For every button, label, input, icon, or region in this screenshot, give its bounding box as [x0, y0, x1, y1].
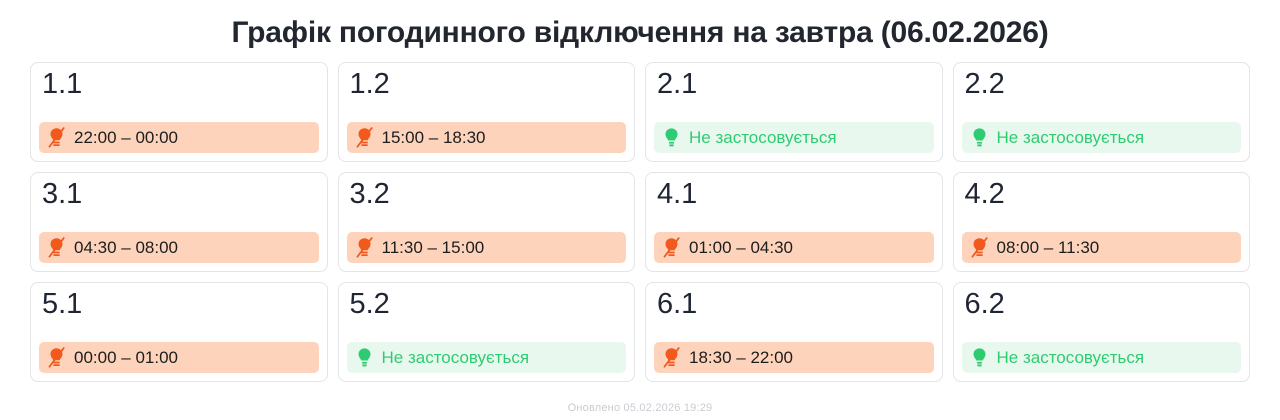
bulb-on-icon	[970, 127, 989, 148]
bulb-off-icon	[355, 127, 374, 148]
card-status-text: 22:00 – 00:00	[74, 129, 178, 146]
page-title: Графік погодинного відключення на завтра…	[0, 0, 1280, 62]
card-queue-label: 2.1	[654, 69, 934, 101]
card-status-band: 08:00 – 11:30	[962, 232, 1242, 263]
outage-card[interactable]: 5.2Не застосовується	[338, 282, 636, 382]
outage-schedule-page: Графік погодинного відключення на завтра…	[0, 0, 1280, 420]
outage-card[interactable]: 3.211:30 – 15:00	[338, 172, 636, 272]
card-status-text: 15:00 – 18:30	[382, 129, 486, 146]
outage-card[interactable]: 2.1Не застосовується	[645, 62, 943, 162]
outage-card[interactable]: 5.100:00 – 01:00	[30, 282, 328, 382]
card-queue-label: 4.1	[654, 179, 934, 211]
card-status-text: Не застосовується	[997, 129, 1145, 146]
bulb-off-icon	[47, 237, 66, 258]
card-queue-label: 3.2	[347, 179, 627, 211]
outage-card[interactable]: 4.208:00 – 11:30	[953, 172, 1251, 272]
bulb-off-icon	[662, 347, 681, 368]
bulb-off-icon	[970, 237, 989, 258]
card-status-text: Не застосовується	[689, 129, 837, 146]
card-status-text: 00:00 – 01:00	[74, 349, 178, 366]
card-status-band: 11:30 – 15:00	[347, 232, 627, 263]
card-status-band: 18:30 – 22:00	[654, 342, 934, 373]
card-status-text: Не застосовується	[997, 349, 1145, 366]
card-status-band: 15:00 – 18:30	[347, 122, 627, 153]
card-queue-label: 6.2	[962, 289, 1242, 321]
bulb-on-icon	[662, 127, 681, 148]
card-status-text: 01:00 – 04:30	[689, 239, 793, 256]
outage-card[interactable]: 6.2Не застосовується	[953, 282, 1251, 382]
outage-card-grid: 1.122:00 – 00:001.215:00 – 18:302.1Не за…	[0, 62, 1280, 382]
outage-card[interactable]: 6.118:30 – 22:00	[645, 282, 943, 382]
bulb-off-icon	[662, 237, 681, 258]
outage-card[interactable]: 2.2Не застосовується	[953, 62, 1251, 162]
card-queue-label: 4.2	[962, 179, 1242, 211]
outage-card[interactable]: 4.101:00 – 04:30	[645, 172, 943, 272]
card-status-band: 04:30 – 08:00	[39, 232, 319, 263]
card-status-band: 00:00 – 01:00	[39, 342, 319, 373]
outage-card[interactable]: 3.104:30 – 08:00	[30, 172, 328, 272]
card-status-text: 18:30 – 22:00	[689, 349, 793, 366]
card-queue-label: 1.2	[347, 69, 627, 101]
card-status-band: 01:00 – 04:30	[654, 232, 934, 263]
card-status-text: 04:30 – 08:00	[74, 239, 178, 256]
card-queue-label: 1.1	[39, 69, 319, 101]
card-queue-label: 3.1	[39, 179, 319, 211]
bulb-off-icon	[47, 347, 66, 368]
card-status-text: Не застосовується	[382, 349, 530, 366]
card-queue-label: 5.1	[39, 289, 319, 321]
bulb-on-icon	[355, 347, 374, 368]
card-status-band: 22:00 – 00:00	[39, 122, 319, 153]
card-status-band: Не застосовується	[962, 122, 1242, 153]
bulb-off-icon	[355, 237, 374, 258]
card-status-text: 08:00 – 11:30	[997, 239, 1100, 256]
card-queue-label: 5.2	[347, 289, 627, 321]
outage-card[interactable]: 1.215:00 – 18:30	[338, 62, 636, 162]
bulb-on-icon	[970, 347, 989, 368]
card-status-text: 11:30 – 15:00	[382, 239, 485, 256]
card-status-band: Не застосовується	[962, 342, 1242, 373]
card-status-band: Не застосовується	[347, 342, 627, 373]
card-status-band: Не застосовується	[654, 122, 934, 153]
card-queue-label: 2.2	[962, 69, 1242, 101]
outage-card[interactable]: 1.122:00 – 00:00	[30, 62, 328, 162]
bulb-off-icon	[47, 127, 66, 148]
updated-timestamp: Оновлено 05.02.2026 19:29	[0, 402, 1280, 420]
card-queue-label: 6.1	[654, 289, 934, 321]
